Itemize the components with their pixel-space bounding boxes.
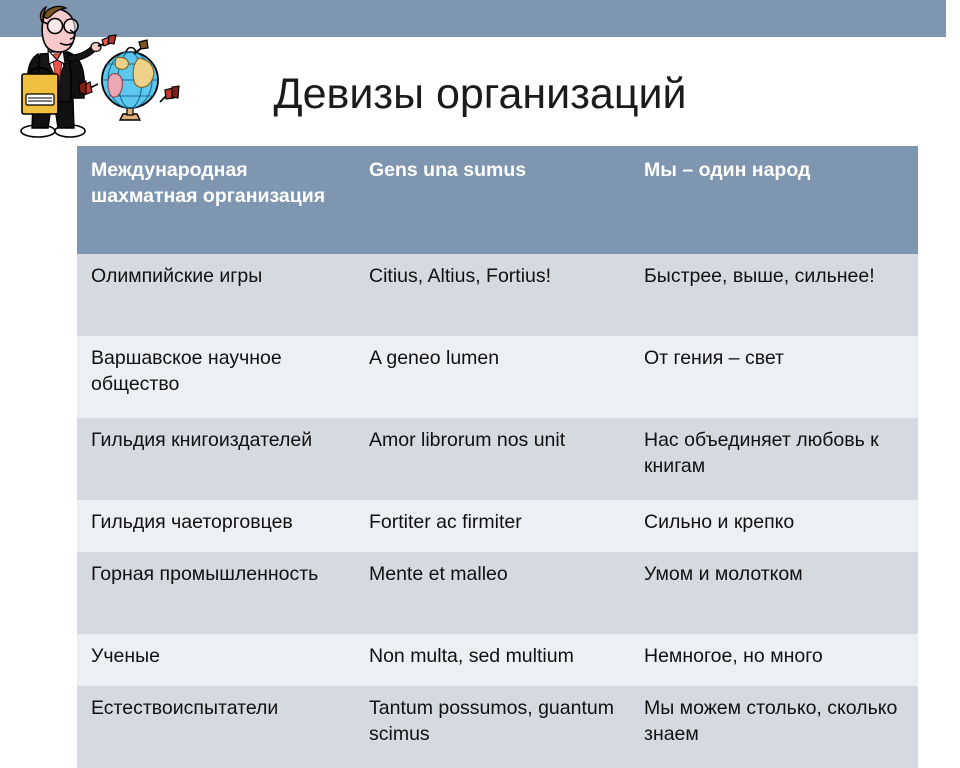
header-cell-translation: Мы – один народ [630, 146, 918, 254]
table-row: Олимпийские игры Citius, Altius, Fortius… [77, 254, 918, 336]
cell-translation: Сильно и крепко [630, 500, 918, 552]
cell-motto: Citius, Altius, Fortius! [355, 254, 630, 336]
mottos-table: Международная шахматная организация Gens… [77, 146, 918, 768]
cell-motto: Amor librorum nos unit [355, 418, 630, 500]
table-header: Международная шахматная организация Gens… [77, 146, 918, 254]
cell-organization: Ученые [77, 634, 355, 686]
cell-motto: Tantum possumos, guantum scimus [355, 686, 630, 768]
businessman-icon [21, 6, 116, 137]
table-row: Гильдия книгоиздателей Amor librorum nos… [77, 418, 918, 500]
header-cell-motto: Gens una sumus [355, 146, 630, 254]
table-body: Олимпийские игры Citius, Altius, Fortius… [77, 254, 918, 768]
cell-motto: A geneo lumen [355, 336, 630, 418]
mottos-table-container: Международная шахматная организация Gens… [77, 146, 918, 768]
table-row: Горная промышленность Mente et malleo Ум… [77, 552, 918, 634]
table-header-row: Международная шахматная организация Gens… [77, 146, 918, 254]
cell-organization: Естествоиспытатели [77, 686, 355, 768]
cell-motto: Non multa, sed multium [355, 634, 630, 686]
cell-organization: Горная промышленность [77, 552, 355, 634]
cell-translation: Мы можем столько, сколько знаем [630, 686, 918, 768]
cell-translation: От гения – свет [630, 336, 918, 418]
table-row: Варшавское научное общество A geneo lume… [77, 336, 918, 418]
table-row: Естествоиспытатели Tantum possumos, guan… [77, 686, 918, 768]
cell-translation: Быстрее, выше, сильнее! [630, 254, 918, 336]
cell-motto: Fortiter ac firmiter [355, 500, 630, 552]
table-row: Гильдия чаеторговцев Fortiter ac firmite… [77, 500, 918, 552]
cell-translation: Умом и молотком [630, 552, 918, 634]
cell-organization: Олимпийские игры [77, 254, 355, 336]
title-clipart [8, 2, 198, 142]
cell-organization: Гильдия чаеторговцев [77, 500, 355, 552]
cell-organization: Варшавское научное общество [77, 336, 355, 418]
cell-motto: Mente et malleo [355, 552, 630, 634]
header-cell-organization: Международная шахматная организация [77, 146, 355, 254]
cell-organization: Гильдия книгоиздателей [77, 418, 355, 500]
cell-translation: Нас объединяет любовь к книгам [630, 418, 918, 500]
table-row: Ученые Non multa, sed multium Немногое, … [77, 634, 918, 686]
cell-translation: Немногое, но много [630, 634, 918, 686]
